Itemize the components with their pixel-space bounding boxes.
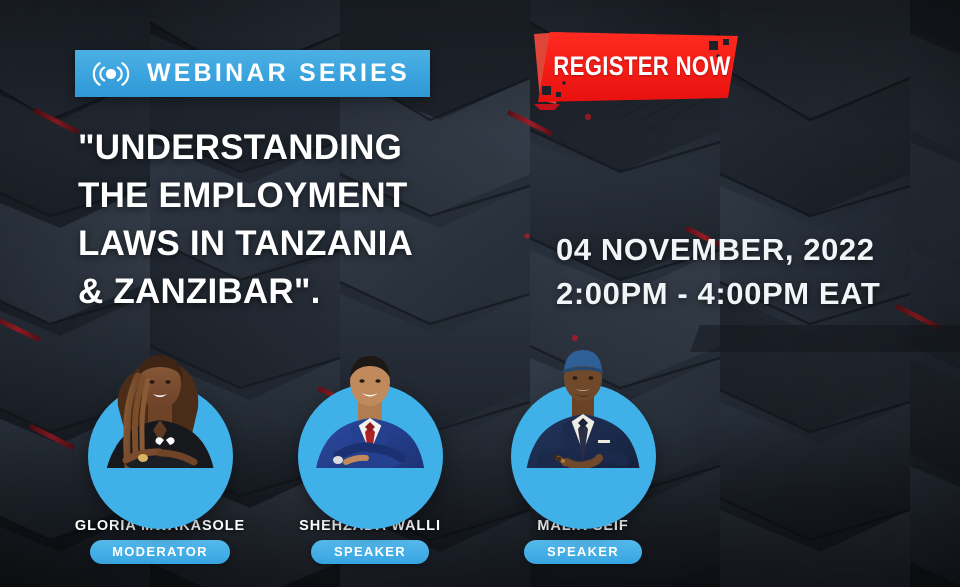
title-line-4: & ZANZIBAR".	[78, 268, 498, 316]
poster-canvas: WEBINAR SERIES REGISTER NOW "UNDERSTANDI…	[0, 0, 960, 587]
schedule-block: 04 NOVEMBER, 2022 2:00PM - 4:00PM EAT	[556, 228, 880, 316]
event-date: 04 NOVEMBER, 2022	[556, 228, 880, 272]
webinar-series-banner: WEBINAR SERIES	[75, 50, 430, 97]
portrait-shehzada-walli	[290, 336, 450, 514]
title-line-3: LAWS IN TANZANIA	[78, 220, 498, 268]
speaker-card-2: SHEHZADA WALLI SPEAKER	[255, 378, 485, 564]
speaker-card-3: MALIK SEIF SPEAKER	[468, 378, 698, 564]
speaker-row: GLORIA MWAKASOLE MODERATOR	[0, 378, 960, 558]
portrait-gloria-mwakasole	[80, 336, 240, 514]
speaker-card-1: GLORIA MWAKASOLE MODERATOR	[45, 378, 275, 564]
broadcast-signal-icon	[91, 57, 131, 91]
speaker-2-photo	[290, 378, 450, 510]
title-line-2: THE EMPLOYMENT	[78, 172, 498, 220]
register-now-label: REGISTER NOW	[581, 48, 704, 84]
speaker-3-photo	[503, 378, 663, 510]
webinar-series-label: WEBINAR SERIES	[147, 61, 410, 86]
speaker-2-role: SPEAKER	[311, 540, 429, 564]
event-time: 2:00PM - 4:00PM EAT	[556, 272, 880, 316]
title-line-1: "UNDERSTANDING	[78, 124, 498, 172]
register-now-button[interactable]: REGISTER NOW	[520, 26, 750, 110]
speaker-1-role: MODERATOR	[90, 540, 230, 564]
webinar-title: "UNDERSTANDING THE EMPLOYMENT LAWS IN TA…	[78, 124, 498, 316]
speaker-3-role: SPEAKER	[524, 540, 642, 564]
speaker-1-photo	[80, 378, 240, 510]
portrait-malik-seif	[503, 336, 663, 514]
